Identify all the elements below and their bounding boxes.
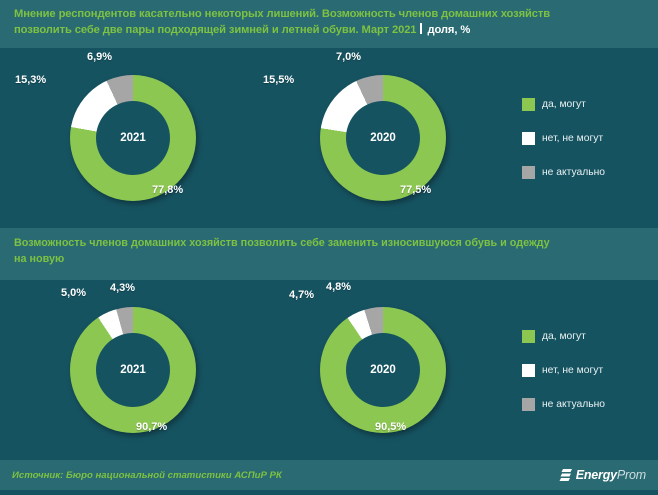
donut-center-label-3: 2020 [370, 364, 396, 376]
donut-wrap-1: 2020 [320, 75, 446, 201]
donut-value-label-3-0: 90,5% [375, 421, 406, 433]
legend-item-ne-aktualno-2[interactable]: не актуально [522, 387, 652, 421]
donut-value-label-0-1: 15,3% [15, 74, 46, 86]
energyprom-wordmark: EnergyProm [576, 468, 646, 482]
legend-section-2: да, могут нет, не могут не актуально [522, 319, 652, 421]
donut-value-label-3-1: 4,7% [289, 289, 314, 301]
page-title-line-2: позволить себе две пары подходящей зимне… [14, 23, 644, 39]
logo-bold-part: Energy [576, 468, 617, 482]
donut-wrap-0: 2021 [70, 75, 196, 201]
legend-item-net-ne-mogut-2[interactable]: нет, не могут [522, 353, 652, 387]
legend-label-1: нет, не могут [542, 365, 603, 376]
donut-chart-1: 2020 77,5% 15,5% 7,0% [258, 48, 508, 228]
logo-light-part: Prom [617, 468, 646, 482]
donut-value-label-2-0: 90,7% [136, 421, 167, 433]
legend-swatch-green-icon [522, 98, 535, 111]
donut-value-label-1-2: 7,0% [336, 51, 361, 63]
donut-value-label-0-2: 6,9% [87, 51, 112, 63]
legend-swatch-green-icon [522, 330, 535, 343]
legend-label-1: нет, не могут [542, 133, 603, 144]
title-separator [420, 23, 422, 34]
legend-section-1: да, могут нет, не могут не актуально [522, 87, 652, 189]
legend-swatch-gray-icon [522, 398, 535, 411]
legend-item-net-ne-mogut[interactable]: нет, не могут [522, 121, 652, 155]
donut-value-label-3-2: 4,8% [326, 281, 351, 293]
infographic-page: Мнение респондентов касательно некоторых… [0, 0, 658, 495]
donut-value-label-0-0: 77,8% [152, 184, 183, 196]
legend-item-da-mogut[interactable]: да, могут [522, 87, 652, 121]
donut-center-label-0: 2021 [120, 132, 146, 144]
page-title-line-1: Мнение респондентов касательно некоторых… [14, 7, 644, 23]
donut-chart-3: 2020 90,5% 4,7% 4,8% [258, 280, 508, 460]
section-2-title-line-1: Возможность членов домашних хозяйств поз… [14, 236, 644, 252]
donut-center-label-2: 2021 [120, 364, 146, 376]
source-note: Источник: Бюро национальной статистики А… [12, 470, 282, 481]
page-title-unit: доля, % [427, 24, 470, 36]
energyprom-logo[interactable]: EnergyProm [559, 468, 646, 482]
donut-value-label-1-0: 77,5% [400, 184, 431, 196]
section-2-title-line-2: на новую [14, 252, 644, 268]
charts-row-1: 2021 77,8% 15,3% 6,9% 2020 77,5% 15,5% 7… [0, 48, 658, 228]
donut-wrap-3: 2020 [320, 307, 446, 433]
donut-chart-0: 2021 77,8% 15,3% 6,9% [8, 48, 258, 228]
legend-item-ne-aktualno[interactable]: не актуально [522, 155, 652, 189]
donut-hole-2: 2021 [96, 333, 170, 407]
donut-value-label-2-1: 5,0% [61, 287, 86, 299]
section-2-title-band: Возможность членов домашних хозяйств поз… [0, 228, 658, 280]
legend-label-0: да, могут [542, 331, 586, 342]
legend-label-2: не актуально [542, 167, 605, 178]
charts-row-2: 2021 90,7% 5,0% 4,3% 2020 90,5% 4,7% 4,8… [0, 280, 658, 460]
legend-label-2: не актуально [542, 399, 605, 410]
donut-value-label-2-2: 4,3% [110, 282, 135, 294]
energyprom-mark-icon [559, 468, 572, 482]
donut-hole-1: 2020 [346, 101, 420, 175]
legend-item-da-mogut-2[interactable]: да, могут [522, 319, 652, 353]
donut-wrap-2: 2021 [70, 307, 196, 433]
chart-section-2: 2021 90,7% 5,0% 4,3% 2020 90,5% 4,7% 4,8… [0, 280, 658, 460]
chart-section-1: 2021 77,8% 15,3% 6,9% 2020 77,5% 15,5% 7… [0, 48, 658, 228]
legend-swatch-gray-icon [522, 166, 535, 179]
donut-hole-0: 2021 [96, 101, 170, 175]
legend-swatch-white-icon [522, 364, 535, 377]
page-title-band: Мнение респондентов касательно некоторых… [0, 0, 658, 48]
donut-hole-3: 2020 [346, 333, 420, 407]
donut-center-label-1: 2020 [370, 132, 396, 144]
donut-chart-2: 2021 90,7% 5,0% 4,3% [8, 280, 258, 460]
legend-label-0: да, могут [542, 99, 586, 110]
page-title-line-2-text: позволить себе две пары подходящей зимне… [14, 24, 416, 36]
donut-value-label-1-1: 15,5% [263, 74, 294, 86]
footer-bar: Источник: Бюро национальной статистики А… [0, 460, 658, 490]
legend-swatch-white-icon [522, 132, 535, 145]
